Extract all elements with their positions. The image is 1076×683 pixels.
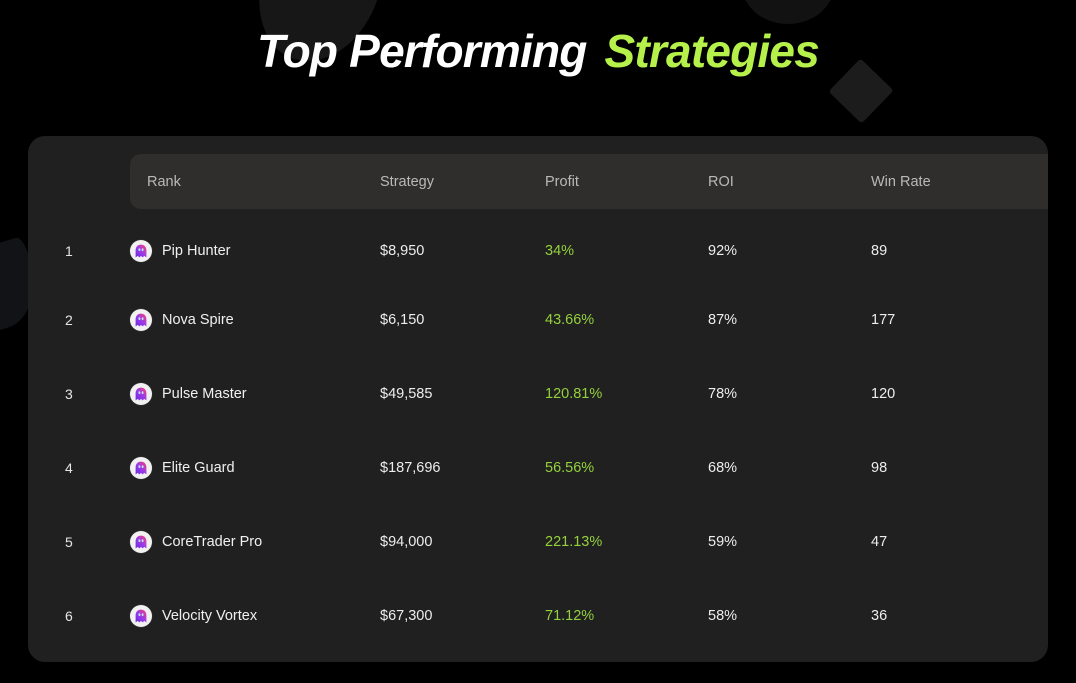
winrate-value: 58%: [708, 608, 737, 624]
profit-value: $187,696: [380, 460, 440, 476]
cell-rank: 3: [48, 357, 130, 431]
cell-profit: $6,150: [380, 283, 545, 357]
cell-followers: 120: [871, 357, 1048, 431]
roi-value: 71.12%: [545, 608, 594, 624]
strategy-avatar-icon: [130, 309, 152, 331]
cell-roi: 43.66%: [545, 283, 708, 357]
rank-value: 6: [65, 608, 73, 624]
profit-value: $6,150: [380, 312, 424, 328]
cell-profit: $8,950: [380, 209, 545, 283]
page-title: Top Performing Strategies: [0, 24, 1076, 78]
winrate-value: 59%: [708, 534, 737, 550]
strategy-avatar-icon: [130, 605, 152, 627]
column-header-strategy-label: Strategy: [380, 174, 545, 190]
cell-winrate: 78%: [708, 357, 871, 431]
cell-profit: $187,696: [380, 431, 545, 505]
table-body: 1Pip Hunter$8,95034%92%892Nova Spire$6,1…: [48, 209, 1048, 653]
page-title-primary: Top Performing: [257, 25, 587, 77]
followers-value: 36: [871, 608, 887, 624]
cell-followers: 177: [871, 283, 1048, 357]
cell-roi: 71.12%: [545, 579, 708, 653]
table-header-row: Rank Strategy Profit ROI Win Rate Follow…: [48, 154, 1048, 209]
rank-value: 4: [65, 460, 73, 476]
cell-profit: $94,000: [380, 505, 545, 579]
column-header-strategy[interactable]: Strategy: [380, 154, 545, 209]
table-row[interactable]: 3Pulse Master$49,585120.81%78%120: [48, 357, 1048, 431]
cell-strategy: Elite Guard: [130, 431, 380, 505]
cell-strategy: Pulse Master: [130, 357, 380, 431]
rank-value: 1: [65, 243, 73, 259]
roi-value: 34%: [545, 243, 574, 259]
column-header-roi-label: ROI: [708, 174, 871, 190]
cell-profit: $67,300: [380, 579, 545, 653]
winrate-value: 87%: [708, 312, 737, 328]
column-header-rank-label: Rank: [147, 174, 380, 190]
cell-roi: 56.56%: [545, 431, 708, 505]
rank-value: 2: [65, 312, 73, 328]
followers-value: 98: [871, 460, 887, 476]
cell-roi: 120.81%: [545, 357, 708, 431]
cell-rank: 6: [48, 579, 130, 653]
strategies-card: Rank Strategy Profit ROI Win Rate Follow…: [28, 136, 1048, 662]
table-row[interactable]: 1Pip Hunter$8,95034%92%89: [48, 209, 1048, 283]
winrate-value: 68%: [708, 460, 737, 476]
column-header-rank[interactable]: Rank: [130, 154, 380, 209]
cell-rank: 5: [48, 505, 130, 579]
profit-value: $67,300: [380, 608, 432, 624]
cell-followers: 98: [871, 431, 1048, 505]
cell-strategy: Pip Hunter: [130, 209, 380, 283]
cell-rank: 2: [48, 283, 130, 357]
cell-profit: $49,585: [380, 357, 545, 431]
strategy-name: Velocity Vortex: [162, 608, 257, 624]
followers-value: 177: [871, 312, 895, 328]
strategy-name: Nova Spire: [162, 312, 234, 328]
column-header-roi[interactable]: ROI: [708, 154, 871, 209]
winrate-value: 78%: [708, 386, 737, 402]
decorative-circle-shape: [742, 0, 834, 24]
rank-value: 3: [65, 386, 73, 402]
roi-value: 120.81%: [545, 386, 602, 402]
strategies-table: Rank Strategy Profit ROI Win Rate Follow…: [48, 154, 1048, 653]
strategy-name: Elite Guard: [162, 460, 235, 476]
roi-value: 221.13%: [545, 534, 602, 550]
column-header-winrate-label: Win Rate: [871, 174, 1048, 190]
roi-value: 56.56%: [545, 460, 594, 476]
strategy-avatar-icon: [130, 383, 152, 405]
page-root: Top Performing Strategies Rank Strategy …: [0, 0, 1076, 683]
cell-winrate: 92%: [708, 209, 871, 283]
winrate-value: 92%: [708, 243, 737, 259]
cell-winrate: 87%: [708, 283, 871, 357]
cell-followers: 36: [871, 579, 1048, 653]
strategy-name: Pip Hunter: [162, 243, 231, 259]
cell-roi: 34%: [545, 209, 708, 283]
cell-strategy: CoreTrader Pro: [130, 505, 380, 579]
cell-strategy: Velocity Vortex: [130, 579, 380, 653]
cell-winrate: 58%: [708, 579, 871, 653]
strategy-avatar-icon: [130, 457, 152, 479]
table-row[interactable]: 4Elite Guard$187,69656.56%68%98: [48, 431, 1048, 505]
profit-value: $49,585: [380, 386, 432, 402]
profit-value: $8,950: [380, 243, 424, 259]
cell-followers: 47: [871, 505, 1048, 579]
column-header-profit[interactable]: Profit: [545, 154, 708, 209]
cell-winrate: 68%: [708, 431, 871, 505]
profit-value: $94,000: [380, 534, 432, 550]
roi-value: 43.66%: [545, 312, 594, 328]
strategy-name: CoreTrader Pro: [162, 534, 262, 550]
cell-strategy: Nova Spire: [130, 283, 380, 357]
page-title-accent: Strategies: [605, 25, 819, 77]
followers-value: 89: [871, 243, 887, 259]
cell-roi: 221.13%: [545, 505, 708, 579]
table-header: Rank Strategy Profit ROI Win Rate Follow…: [48, 154, 1048, 209]
cell-rank: 1: [48, 209, 130, 283]
cell-rank: 4: [48, 431, 130, 505]
strategy-avatar-icon: [130, 240, 152, 262]
cell-followers: 89: [871, 209, 1048, 283]
column-header-winrate[interactable]: Win Rate: [871, 154, 1048, 209]
strategy-avatar-icon: [130, 531, 152, 553]
rank-value: 5: [65, 534, 73, 550]
followers-value: 120: [871, 386, 895, 402]
cell-winrate: 59%: [708, 505, 871, 579]
followers-value: 47: [871, 534, 887, 550]
table-row[interactable]: 5CoreTrader Pro$94,000221.13%59%47: [48, 505, 1048, 579]
table-row[interactable]: 6Velocity Vortex$67,30071.12%58%36: [48, 579, 1048, 653]
table-row[interactable]: 2Nova Spire$6,15043.66%87%177: [48, 283, 1048, 357]
column-header-profit-label: Profit: [545, 174, 708, 190]
strategy-name: Pulse Master: [162, 386, 247, 402]
